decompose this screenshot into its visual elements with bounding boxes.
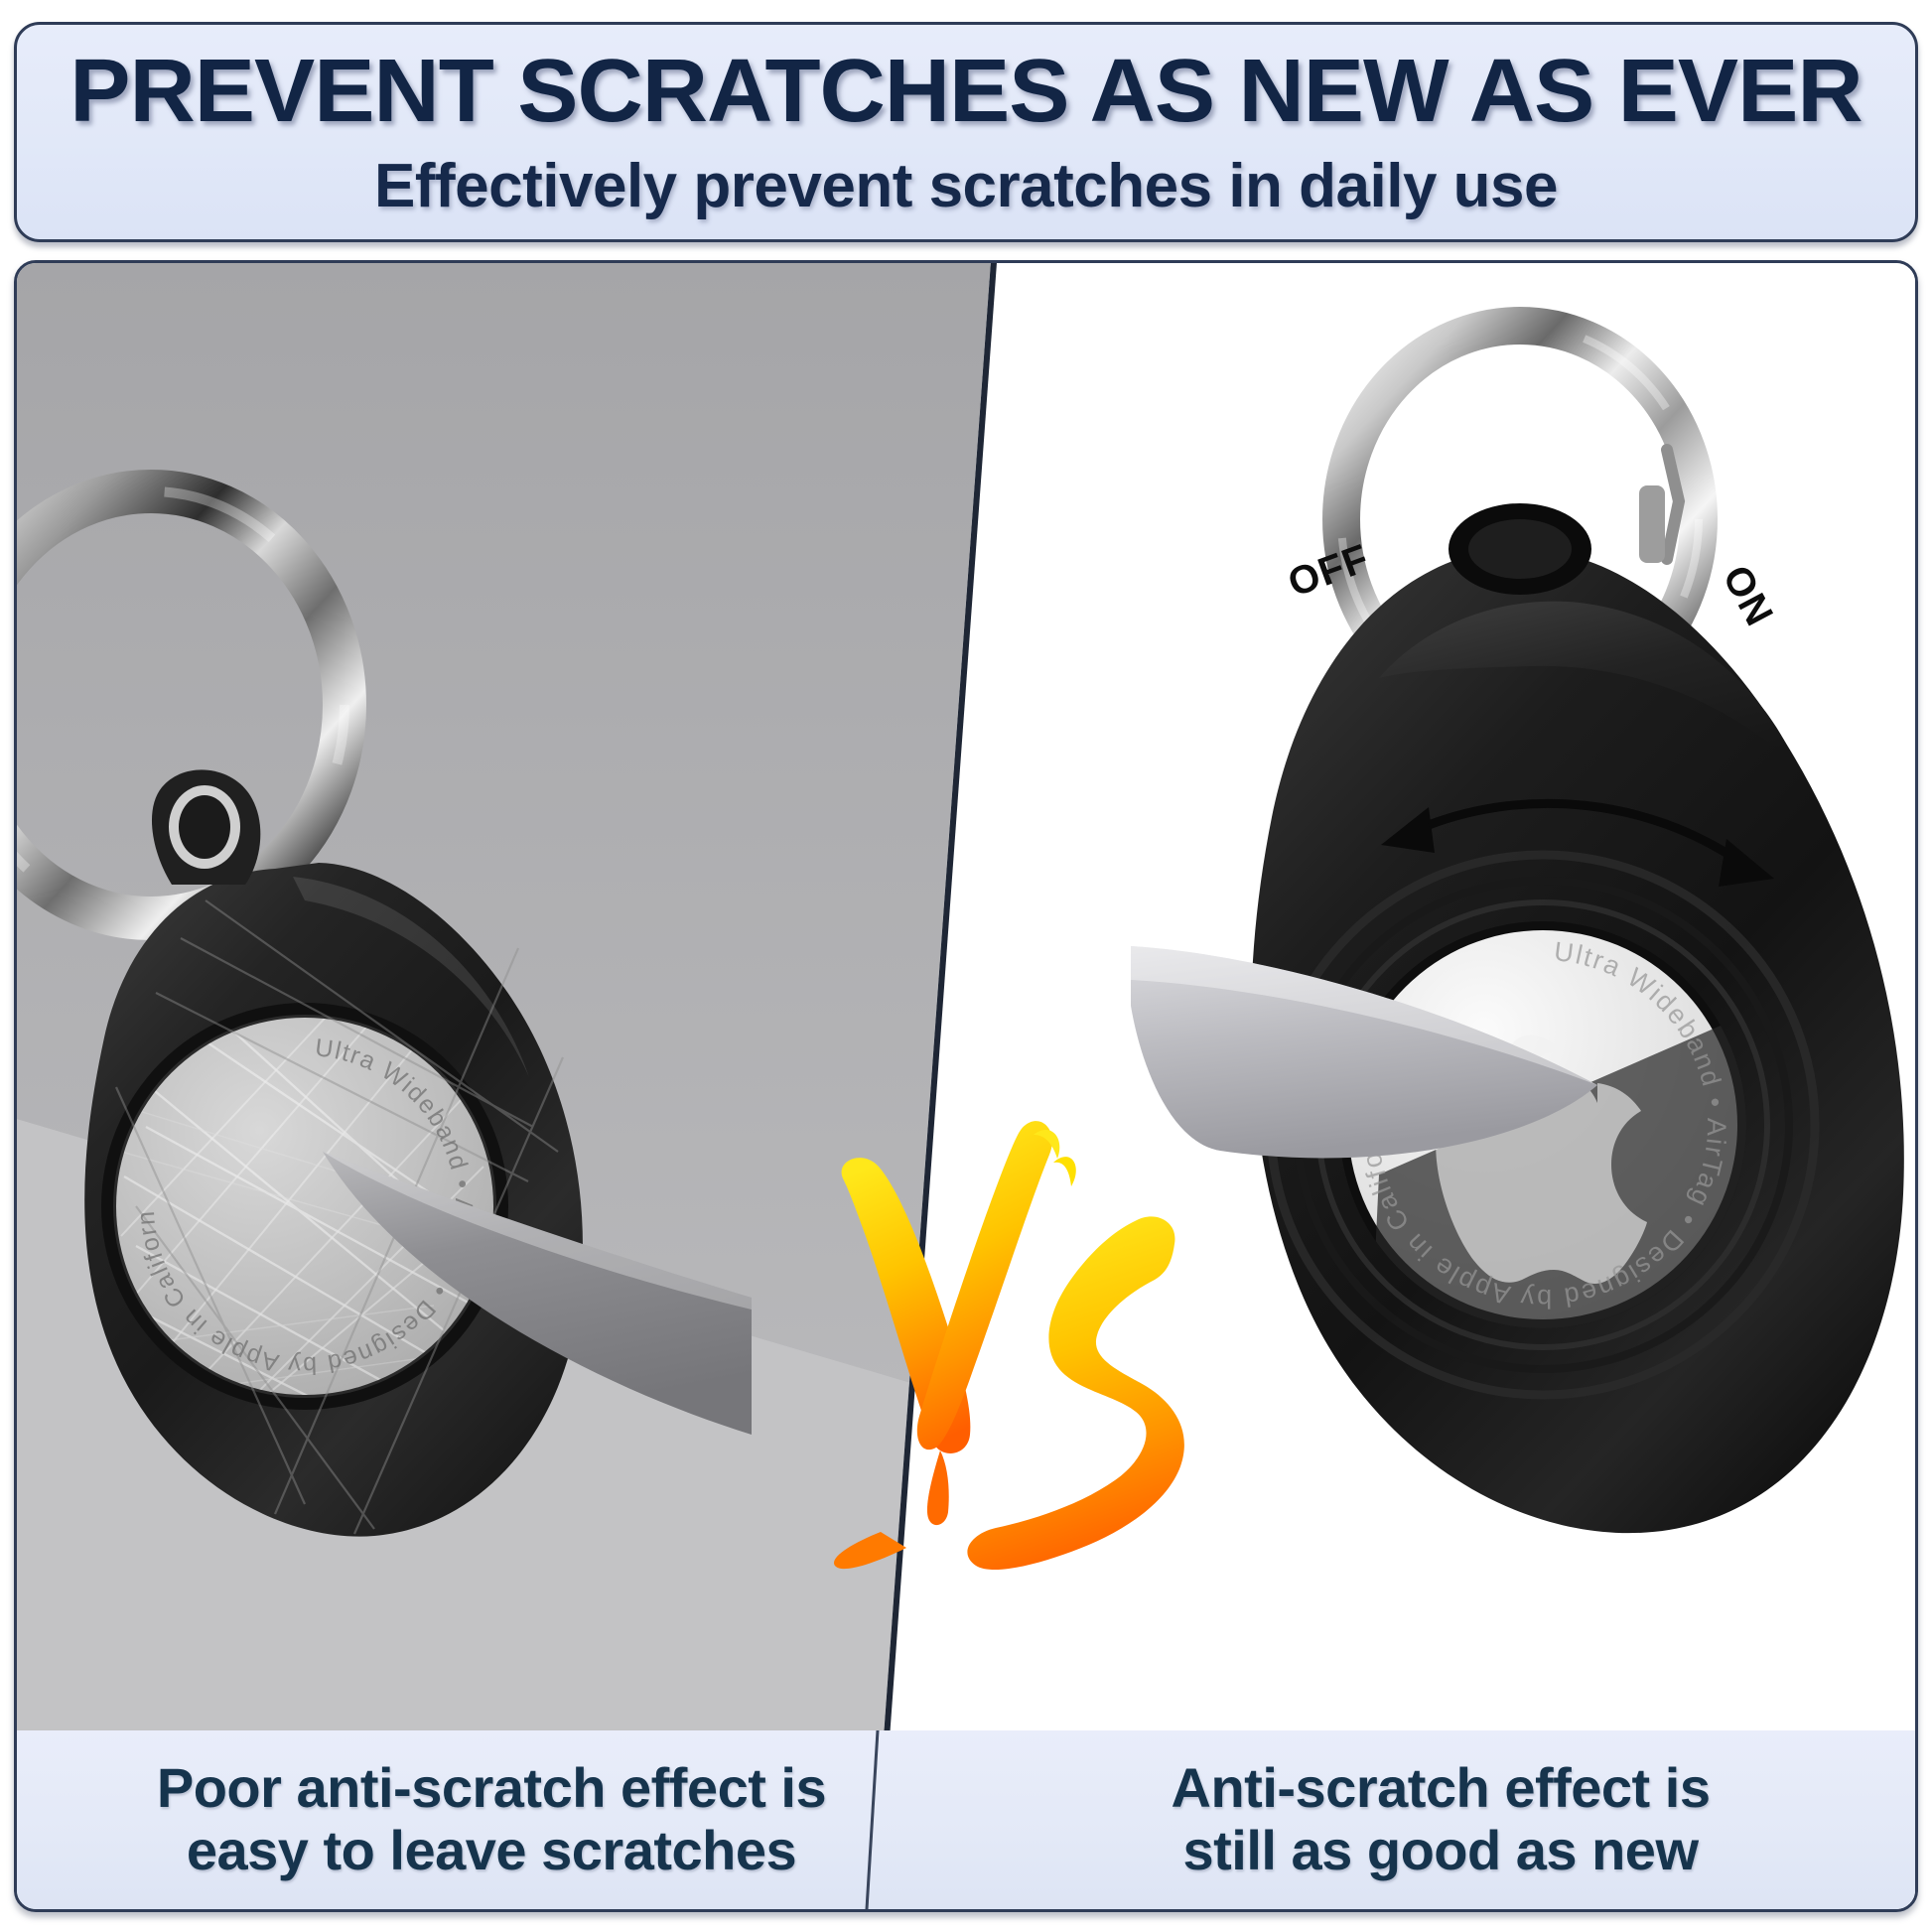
page-subtitle: Effectively prevent scratches in daily u… [374,156,1558,217]
left-caption: Poor anti-scratch effect is easy to leav… [17,1730,966,1909]
page-title: PREVENT SCRATCHES AS NEW AS EVER [69,47,1862,136]
left-product-image: Ultra Wideband • AirTag • Designed by Ap… [14,260,752,1584]
right-product-image: Ultra Wideband • AirTag • Designed by Ap… [1131,260,1918,1621]
pristine-airtag-holder: Ultra Wideband • AirTag • Designed by Ap… [1131,260,1918,1621]
comparison-stage: Ultra Wideband • AirTag • Designed by Ap… [17,263,1915,1909]
right-caption-line2: still as good as new [1172,1820,1711,1882]
scratched-airtag-holder: Ultra Wideband • AirTag • Designed by Ap… [14,260,752,1584]
caption-bar: Poor anti-scratch effect is easy to leav… [17,1730,1915,1909]
comparison-panel: Ultra Wideband • AirTag • Designed by Ap… [14,260,1918,1912]
right-caption-line1: Anti-scratch effect is [1172,1757,1711,1820]
left-caption-line2: easy to leave scratches [157,1820,826,1882]
header-banner: PREVENT SCRATCHES AS NEW AS EVER Effecti… [14,22,1918,242]
left-caption-line1: Poor anti-scratch effect is [157,1757,826,1820]
right-caption: Anti-scratch effect is still as good as … [966,1730,1915,1909]
